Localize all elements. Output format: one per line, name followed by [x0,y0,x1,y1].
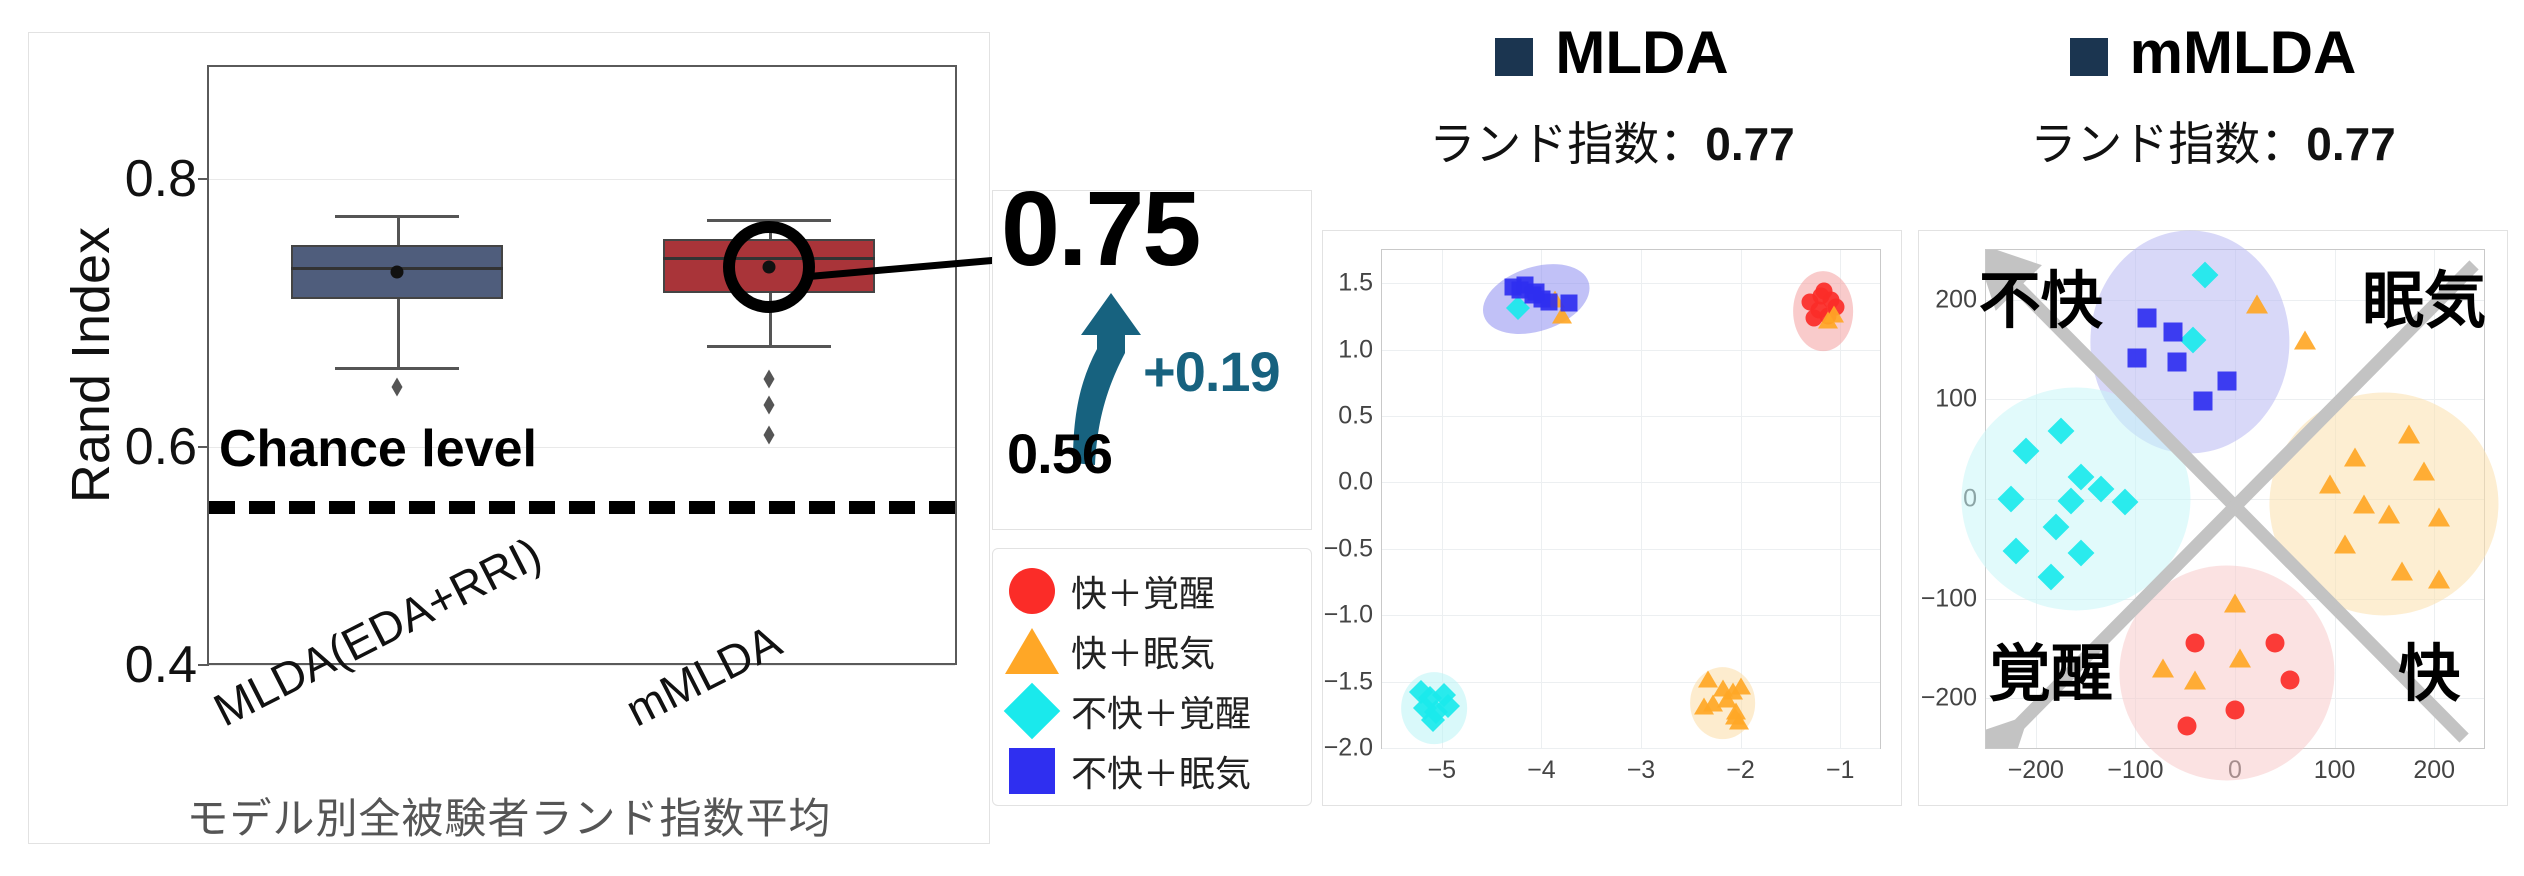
value-bottom: 0.56 [1007,421,1112,486]
y-tick-label: 100 [1935,385,1977,414]
delta-annotation-panel: 0.75 +0.19 0.56 [992,190,1312,530]
mlda-subtitle: ランド指数：0.77 [1322,108,1902,174]
data-point [1694,697,1714,714]
x-tick-label: −200 [2008,756,2064,785]
y-axis-label: Rand Index [60,227,122,503]
xtick-label-mmlda: mMLDA [617,614,790,738]
quadrant-label-sleepy: 眠気 [2362,250,2486,340]
data-point [2186,634,2205,653]
y-tick-label: −200 [1921,684,1977,713]
data-point [2398,425,2420,444]
mmlda-subtitle: ランド指数：0.77 [1918,108,2508,174]
whisker-lower-1 [397,299,400,367]
y-tick-label: −1.0 [1324,601,1373,630]
figure-root: 0.8 0.6 0.4 Rand Index Chance level [0,0,2524,876]
navy-square-icon [1495,38,1533,76]
ytick-label-0-4: 0.4 [125,635,197,695]
gridline-y [1382,416,1880,417]
data-point [2413,462,2435,481]
legend-item-unpleasant-sleepy: 不快＋眠気 [993,741,1311,801]
ytick-mark-0-8 [198,178,209,180]
data-point [1824,305,1844,322]
ytick-mark-0-4 [198,664,209,666]
data-point [2184,671,2206,690]
gridline-y [1382,615,1880,616]
triangle-marker-icon [993,628,1071,674]
data-point [2280,671,2299,690]
gridline-y [1382,350,1880,351]
circle-marker-icon [993,568,1071,614]
data-point [2334,534,2356,553]
x-tick-label: −4 [1527,756,1556,785]
data-point [2428,507,2450,526]
delta-value: +0.19 [1143,339,1280,404]
xtick-label-mlda: MLDA(EDA+RRI) [205,526,549,737]
legend-label-2: 不快＋覚醒 [1071,685,1251,737]
data-point [2218,372,2237,391]
ytick-label-0-6: 0.6 [125,417,197,477]
mlda-scatter-panel: 1.51.00.50.0−0.5−1.0−1.5−2.0−5−4−3−2−1 [1322,230,1902,806]
flier-1-1 [392,378,403,397]
gridline-x [1641,250,1642,748]
gridline-y [1382,549,1880,550]
data-point [2226,701,2245,720]
flier-2-3 [764,426,775,445]
whisker-cap-upper-1 [335,215,459,218]
ytick-mark-0-6 [198,446,209,448]
data-point [2178,717,2197,736]
y-tick-label: −2.0 [1324,734,1373,763]
mlda-title-text: MLDA [1555,19,1728,86]
x-tick-label: 200 [2413,756,2455,785]
mmlda-title: mMLDA [1918,18,2508,87]
legend-item-pleasant-sleepy: 快＋眠気 [993,621,1311,681]
data-point [2294,330,2316,349]
data-point [2128,348,2147,367]
legend-label-3: 不快＋眠気 [1071,745,1251,797]
data-point [2319,475,2341,494]
flier-2-2 [764,396,775,415]
marker-legend: 快＋覚醒 快＋眠気 不快＋覚醒 不快＋眠気 [992,548,1312,806]
data-point [2353,494,2375,513]
mlda-subtitle-value: 0.77 [1705,118,1795,170]
whisker-cap-lower-1 [335,367,459,370]
whisker-cap-lower-2 [707,345,831,348]
data-point [2164,322,2183,341]
square-marker-icon [993,748,1071,794]
legend-item-pleasant-awake: 快＋覚醒 [993,561,1311,621]
flier-2-1 [764,370,775,389]
quadrant-label-awake: 覚醒 [1989,623,2113,713]
legend-item-unpleasant-awake: 不快＋覚醒 [993,681,1311,741]
data-point [2138,308,2157,327]
mmlda-title-text: mMLDA [2130,19,2357,86]
data-point [1528,284,1545,301]
y-tick-label: −0.5 [1324,534,1373,563]
x-tick-label: −3 [1627,756,1656,785]
y-tick-label: −1.5 [1324,667,1373,696]
data-point [2344,448,2366,467]
data-point [2152,659,2174,678]
y-tick-label: 200 [1935,285,1977,314]
y-tick-label: 0.5 [1338,402,1373,431]
mmlda-plot-area: 2001000−100−200−200−1000100200不快眠気覚醒快 [1985,249,2485,749]
quadrant-label-unpleasant: 不快 [1979,250,2103,340]
y-tick-label: −100 [1921,584,1977,613]
quadrant-label-pleasant: 快 [2398,623,2460,713]
gridline-y [1382,748,1880,749]
y-tick-label: 0.0 [1338,468,1373,497]
mlda-title: MLDA [1322,18,1902,87]
gridline-0-8 [209,179,955,180]
chance-level-label: Chance level [219,419,537,479]
value-top: 0.75 [1001,169,1199,290]
data-point [2428,569,2450,588]
data-point [2194,392,2213,411]
data-point [2246,294,2268,313]
boxplot-caption: モデル別全被験者ランド指数平均 [29,785,989,846]
boxplot-axes: 0.8 0.6 0.4 Rand Index Chance level [207,65,957,665]
data-point [2265,634,2284,653]
data-point [2224,593,2246,612]
x-tick-label: −100 [2107,756,2163,785]
gridline-y [1382,482,1880,483]
legend-label-1: 快＋眠気 [1071,625,1215,677]
mmlda-subtitle-prefix: ランド指数： [2030,118,2306,170]
x-tick-label: −2 [1726,756,1755,785]
y-tick-label: 1.0 [1338,335,1373,364]
x-tick-label: −1 [1826,756,1855,785]
data-point [2168,352,2187,371]
mlda-header: MLDA ランド指数：0.77 [1322,0,1902,180]
x-tick-label: 100 [2314,756,2356,785]
mmlda-subtitle-value: 0.77 [2306,118,2396,170]
legend-label-0: 快＋覚醒 [1071,565,1215,617]
boxplot-panel: 0.8 0.6 0.4 Rand Index Chance level [28,32,990,844]
mmlda-scatter-panel: 2001000−100−200−200−1000100200不快眠気覚醒快 [1918,230,2508,806]
mmlda-header: mMLDA ランド指数：0.77 [1918,0,2508,180]
navy-square-icon [2070,38,2108,76]
data-point [2229,649,2251,668]
y-tick-label: 1.5 [1338,269,1373,298]
ytick-label-0-8: 0.8 [125,149,197,209]
mlda-subtitle-prefix: ランド指数： [1429,118,1705,170]
highlight-circle [723,221,815,313]
data-point [1561,295,1578,312]
data-point [2378,504,2400,523]
mean-marker-1 [391,266,404,279]
mlda-plot-area: 1.51.00.50.0−0.5−1.0−1.5−2.0−5−4−3−2−1 [1381,249,1881,749]
data-point [1725,708,1745,725]
data-point [2391,561,2413,580]
x-tick-label: −5 [1427,756,1456,785]
data-point [1813,288,1830,305]
diamond-marker-icon [993,691,1071,731]
chance-level-line [209,501,955,514]
